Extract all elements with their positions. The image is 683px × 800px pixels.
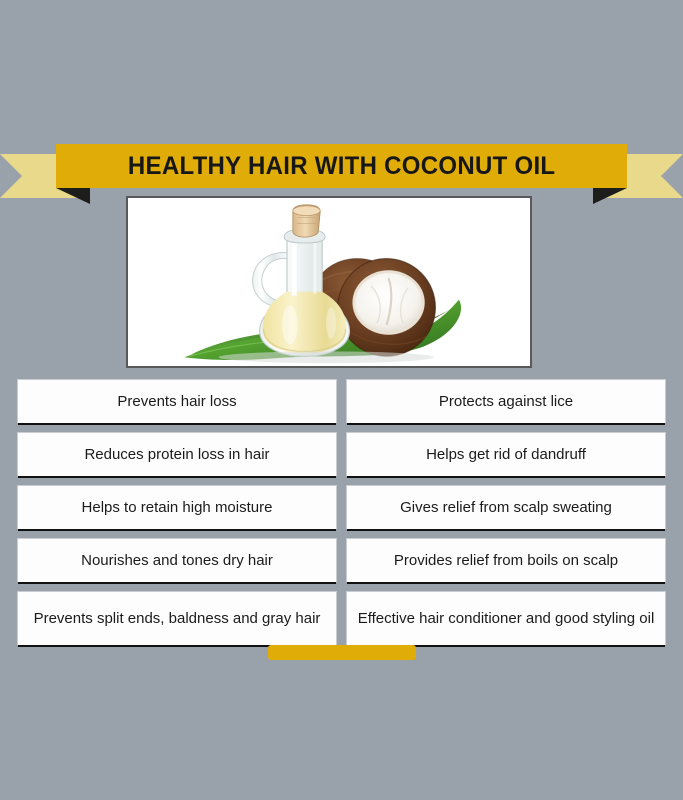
benefit-item[interactable]: Nourishes and tones dry hair	[17, 538, 337, 582]
benefit-label: Gives relief from scalp sweating	[400, 498, 612, 518]
benefit-label: Nourishes and tones dry hair	[81, 551, 273, 571]
benefit-item[interactable]: Prevents hair loss	[17, 379, 337, 423]
page-title: HEALTHY HAIR WITH COCONUT OIL	[128, 152, 555, 181]
benefit-label: Reduces protein loss in hair	[84, 445, 269, 465]
benefit-item[interactable]: Helps to retain high moisture	[17, 485, 337, 529]
benefit-item[interactable]: Effective hair conditioner and good styl…	[346, 591, 666, 645]
coconut-oil-photo	[128, 198, 530, 366]
benefit-label: Effective hair conditioner and good styl…	[358, 609, 655, 629]
benefits-left-column: Prevents hair loss Reduces protein loss …	[17, 379, 337, 645]
benefit-item[interactable]: Prevents split ends, baldness and gray h…	[17, 591, 337, 645]
benefit-item[interactable]: Gives relief from scalp sweating	[346, 485, 666, 529]
benefit-label: Helps to retain high moisture	[82, 498, 273, 518]
benefit-item[interactable]: Helps get rid of dandruff	[346, 432, 666, 476]
benefits-grid: Prevents hair loss Reduces protein loss …	[17, 379, 666, 645]
footer-accent-bar	[268, 645, 416, 660]
benefit-item[interactable]: Reduces protein loss in hair	[17, 432, 337, 476]
benefit-label: Helps get rid of dandruff	[426, 445, 586, 465]
benefit-item[interactable]: Protects against lice	[346, 379, 666, 423]
benefit-label: Prevents split ends, baldness and gray h…	[34, 609, 321, 629]
coconut-half-front	[338, 259, 436, 357]
benefit-label: Prevents hair loss	[117, 392, 236, 412]
hero-image-frame	[126, 196, 532, 368]
banner-bar: HEALTHY HAIR WITH COCONUT OIL	[56, 144, 627, 188]
benefit-label: Provides relief from boils on scalp	[394, 551, 618, 571]
coconut-oil-illustration	[128, 198, 530, 366]
benefit-item[interactable]: Provides relief from boils on scalp	[346, 538, 666, 582]
benefit-label: Protects against lice	[439, 392, 573, 412]
benefits-right-column: Protects against lice Helps get rid of d…	[346, 379, 666, 645]
